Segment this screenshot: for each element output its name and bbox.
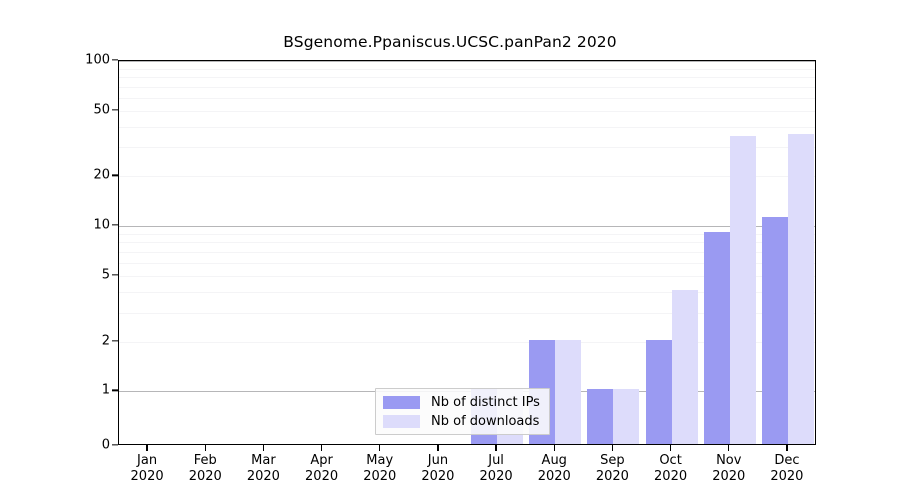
legend-label: Nb of distinct IPs bbox=[431, 395, 540, 410]
y-tick-label: 5 bbox=[102, 267, 110, 282]
y-tick-mark bbox=[112, 109, 118, 110]
x-tick-mark bbox=[786, 445, 787, 451]
x-tick-mark bbox=[670, 445, 671, 451]
y-tick-label: 10 bbox=[93, 218, 110, 233]
x-tick-mark bbox=[321, 445, 322, 451]
legend-item[interactable]: Nb of distinct IPs bbox=[383, 394, 540, 410]
x-tick-mark bbox=[205, 445, 206, 451]
bar bbox=[555, 340, 581, 444]
x-tick-mark bbox=[437, 445, 438, 451]
y-tick-label: 100 bbox=[85, 53, 110, 68]
y-tick-mark bbox=[112, 59, 118, 60]
x-tick-mark bbox=[728, 445, 729, 451]
x-tick-mark bbox=[379, 445, 380, 451]
x-tick-month: Dec bbox=[747, 453, 827, 469]
bar bbox=[646, 340, 672, 444]
y-tick-mark bbox=[112, 390, 118, 391]
legend-item[interactable]: Nb of downloads bbox=[383, 413, 540, 429]
chart-figure: BSgenome.Ppaniscus.UCSC.panPan2 2020 100… bbox=[0, 0, 900, 500]
bar bbox=[613, 389, 639, 444]
legend-swatch bbox=[383, 396, 420, 409]
x-tick-mark bbox=[554, 445, 555, 451]
chart-legend: Nb of distinct IPsNb of downloads bbox=[375, 388, 550, 435]
y-tick-label: 0 bbox=[102, 438, 110, 453]
bar bbox=[762, 217, 788, 444]
x-tick-label: Dec2020 bbox=[747, 453, 827, 484]
y-tick-mark bbox=[112, 175, 118, 176]
legend-label: Nb of downloads bbox=[431, 414, 539, 429]
chart-title: BSgenome.Ppaniscus.UCSC.panPan2 2020 bbox=[0, 33, 900, 51]
bar bbox=[788, 134, 814, 444]
y-tick-mark bbox=[112, 340, 118, 341]
y-tick-label: 2 bbox=[102, 333, 110, 348]
bar bbox=[587, 389, 613, 444]
y-tick-label: 50 bbox=[93, 102, 110, 117]
x-tick-year: 2020 bbox=[747, 469, 827, 485]
y-tick-mark bbox=[112, 444, 118, 445]
bar bbox=[704, 232, 730, 444]
bar bbox=[672, 290, 698, 444]
x-tick-mark bbox=[263, 445, 264, 451]
y-tick-mark bbox=[112, 225, 118, 226]
bars-container bbox=[119, 61, 815, 444]
y-tick-label: 20 bbox=[93, 168, 110, 183]
x-tick-mark bbox=[146, 445, 147, 451]
x-tick-mark bbox=[495, 445, 496, 451]
x-tick-mark bbox=[612, 445, 613, 451]
legend-swatch bbox=[383, 415, 420, 428]
bar bbox=[730, 136, 756, 444]
y-tick-mark bbox=[112, 274, 118, 275]
y-tick-label: 1 bbox=[102, 383, 110, 398]
